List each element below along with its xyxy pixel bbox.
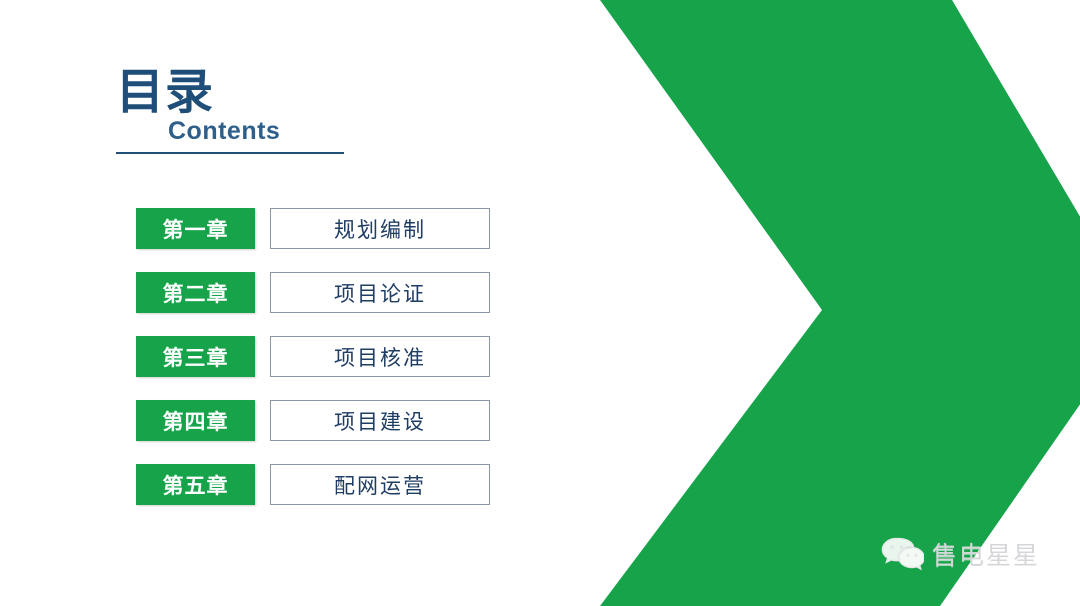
chapter-title-5[interactable]: 配网运营 xyxy=(270,464,490,505)
page-subtitle: Contents xyxy=(116,118,416,146)
chapter-title-1[interactable]: 规划编制 xyxy=(270,208,490,249)
list-item[interactable]: 第五章 配网运营 xyxy=(136,464,490,505)
chapter-tag-1[interactable]: 第一章 xyxy=(136,208,255,249)
chevron-shape xyxy=(600,0,1080,606)
watermark: 售电星星 xyxy=(880,534,1040,574)
list-item[interactable]: 第一章 规划编制 xyxy=(136,208,490,249)
list-item[interactable]: 第四章 项目建设 xyxy=(136,400,490,441)
chapter-title-3[interactable]: 项目核准 xyxy=(270,336,490,377)
chapter-title-4[interactable]: 项目建设 xyxy=(270,400,490,441)
chapter-tag-5[interactable]: 第五章 xyxy=(136,464,255,505)
slide-canvas: 目录 Contents 第一章 规划编制 第二章 项目论证 第三章 项目核准 第… xyxy=(0,0,1080,606)
wechat-logo-icon xyxy=(880,534,924,574)
chapter-title-2[interactable]: 项目论证 xyxy=(270,272,490,313)
chapter-tag-3[interactable]: 第三章 xyxy=(136,336,255,377)
page-title: 目录 xyxy=(116,68,416,116)
title-underline xyxy=(116,152,344,154)
chapter-tag-2[interactable]: 第二章 xyxy=(136,272,255,313)
chapter-tag-4[interactable]: 第四章 xyxy=(136,400,255,441)
list-item[interactable]: 第二章 项目论证 xyxy=(136,272,490,313)
page-title-block: 目录 Contents xyxy=(116,68,416,154)
list-item[interactable]: 第三章 项目核准 xyxy=(136,336,490,377)
contents-list: 第一章 规划编制 第二章 项目论证 第三章 项目核准 第四章 项目建设 第五章 … xyxy=(136,208,490,505)
watermark-text: 售电星星 xyxy=(932,536,1040,572)
